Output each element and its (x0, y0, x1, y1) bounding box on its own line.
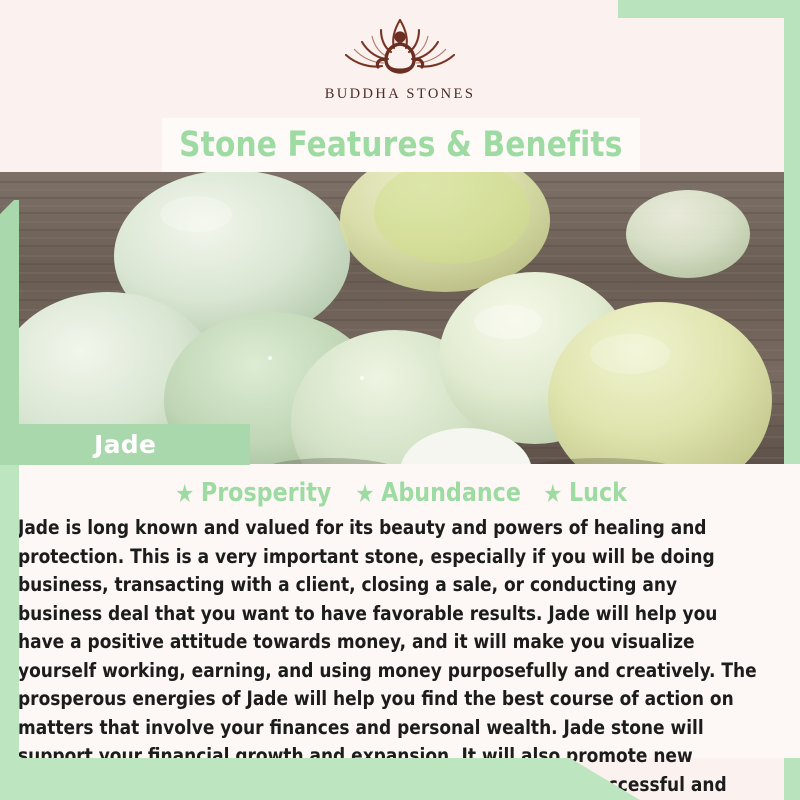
benefit-item-0: ★ Prosperity (175, 478, 331, 508)
brand-logo: BUDDHA STONES (0, 14, 800, 114)
benefit-label-0: Prosperity (200, 478, 330, 508)
benefits-row: ★ Prosperity ★ Abundance ★ Luck (0, 478, 800, 508)
stone-description: Jade is long known and valued for its be… (18, 514, 767, 800)
infographic-page: BUDDHA STONES Stone Features & Benefits (0, 0, 800, 800)
lotus-meditation-icon (334, 14, 466, 82)
star-icon: ★ (355, 481, 374, 506)
benefit-item-2: ★ Luck (543, 478, 627, 508)
stone-photo (0, 172, 800, 464)
star-icon: ★ (175, 481, 194, 506)
decor-green-band-bottom (0, 758, 640, 800)
stone-name-label: Jade (94, 432, 156, 457)
stone-name-band: Jade (0, 424, 250, 465)
title-banner: Stone Features & Benefits (162, 118, 640, 172)
benefit-item-1: ★ Abundance (355, 478, 521, 508)
decor-green-strip-left-lower (0, 424, 19, 800)
content-panel: ★ Prosperity ★ Abundance ★ Luck Jade is … (0, 464, 800, 758)
stone-photo-image (0, 172, 800, 464)
brand-name: BUDDHA STONES (325, 86, 476, 103)
star-icon: ★ (543, 481, 562, 506)
benefit-label-2: Luck (569, 478, 627, 508)
page-title: Stone Features & Benefits (179, 128, 622, 163)
benefit-label-1: Abundance (381, 478, 521, 508)
